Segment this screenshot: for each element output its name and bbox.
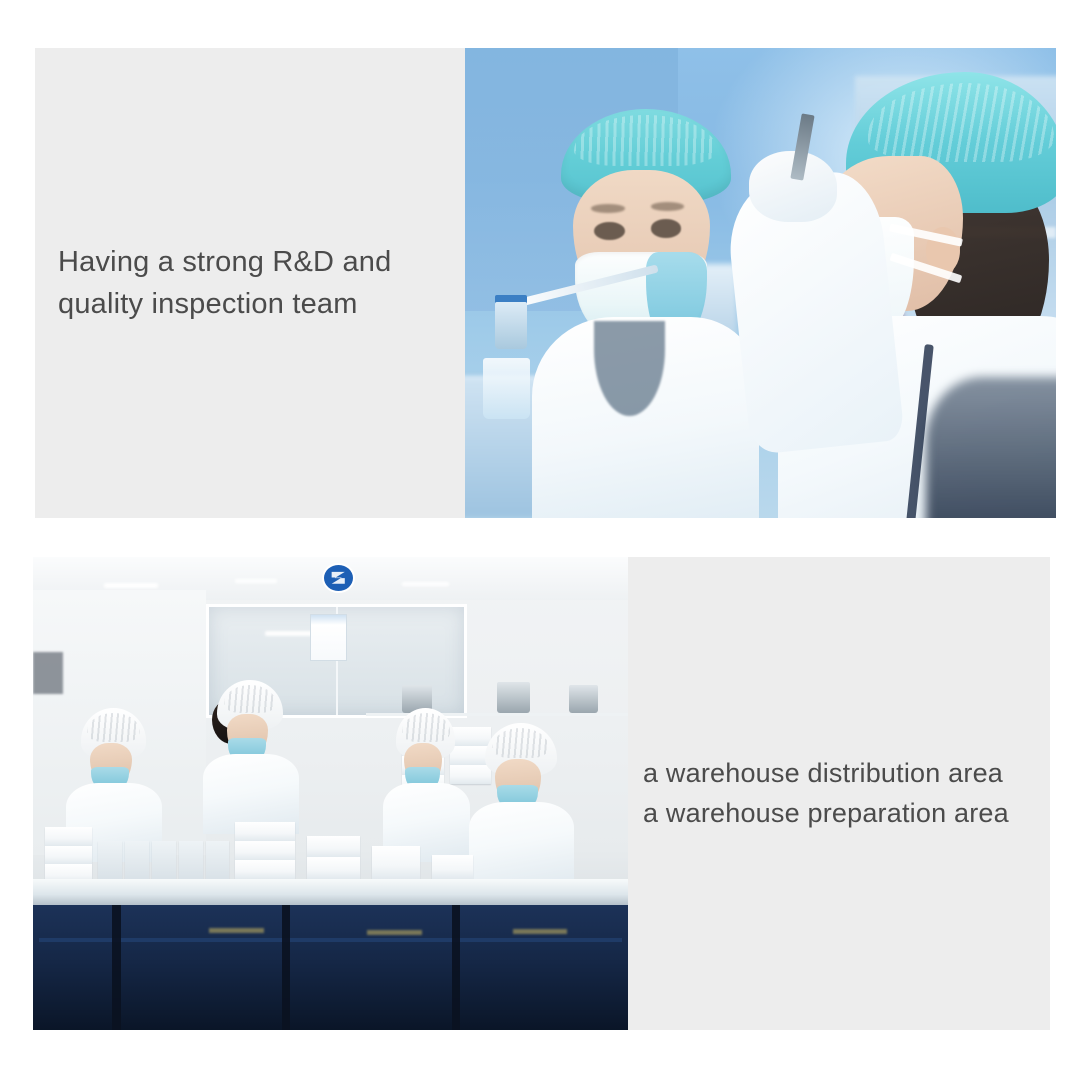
- technician-eye: [651, 219, 682, 237]
- ceiling-light: [235, 579, 277, 584]
- box-stack-item: [307, 836, 361, 857]
- box-stack-item: [235, 841, 295, 860]
- warehouse-caption-line-1: a warehouse distribution area: [643, 754, 1009, 793]
- warehouse-caption-line-2: a warehouse preparation area: [643, 794, 1009, 833]
- ceiling-light: [104, 583, 158, 588]
- floor-marking: [513, 929, 568, 934]
- rnd-caption: Having a strong R&D and quality inspecti…: [58, 241, 391, 325]
- table-under-shadow: [33, 905, 628, 1030]
- floor-marking: [209, 928, 264, 933]
- technician-eyebrow: [591, 204, 624, 213]
- slide-canvas: Having a strong R&D and quality inspecti…: [0, 0, 1080, 1080]
- box-upright: [152, 841, 176, 884]
- technician-eye: [594, 222, 625, 240]
- warehouse-worker: [485, 723, 556, 865]
- warehouse-worker: [396, 708, 456, 840]
- section-warehouse: a warehouse distribution area a warehous…: [33, 557, 1050, 1030]
- box-stack-item: [307, 857, 361, 878]
- box-stack-item: [432, 855, 474, 879]
- technician-eyebrow: [651, 202, 684, 211]
- box-upright: [98, 841, 122, 884]
- table-rail: [39, 938, 622, 942]
- glass-beaker: [483, 358, 530, 419]
- warehouse-caption: a warehouse distribution area a warehous…: [643, 754, 1009, 832]
- box-stack-item: [235, 822, 295, 841]
- table-leg: [282, 905, 290, 1030]
- lab-foreground-shadow: [926, 377, 1056, 518]
- floor-marking: [367, 930, 422, 935]
- box-upright: [125, 841, 149, 884]
- lab-technicians-photo: [465, 48, 1056, 518]
- blue-circular-sign: [322, 563, 355, 593]
- warehouse-caption-panel: a warehouse distribution area a warehous…: [628, 557, 1050, 1030]
- table-leg: [452, 905, 460, 1030]
- rnd-caption-panel: Having a strong R&D and quality inspecti…: [35, 48, 465, 518]
- box-stack-item: [372, 846, 420, 879]
- wall-vent: [33, 652, 63, 695]
- warehouse-worker: [217, 680, 282, 812]
- steel-container: [569, 685, 599, 713]
- box-upright: [179, 841, 203, 884]
- ceiling-light: [402, 582, 450, 587]
- warehouse-packing-photo: [33, 557, 628, 1030]
- box-stack-item: [45, 827, 93, 846]
- worker-white-coat: [469, 802, 573, 887]
- box-stack-item: [45, 846, 93, 865]
- box-stack-item: [235, 860, 295, 879]
- rnd-caption-line-2: quality inspection team: [58, 283, 391, 325]
- stainless-steel-table: [33, 879, 628, 907]
- wall-notice-board: [310, 614, 347, 661]
- box-upright: [206, 841, 230, 884]
- rnd-caption-line-1: Having a strong R&D and: [58, 241, 391, 283]
- steel-container: [497, 682, 530, 713]
- sample-vial: [495, 302, 528, 349]
- section-rnd-quality: Having a strong R&D and quality inspecti…: [35, 48, 1056, 518]
- table-leg: [112, 905, 120, 1030]
- warehouse-worker: [81, 708, 146, 840]
